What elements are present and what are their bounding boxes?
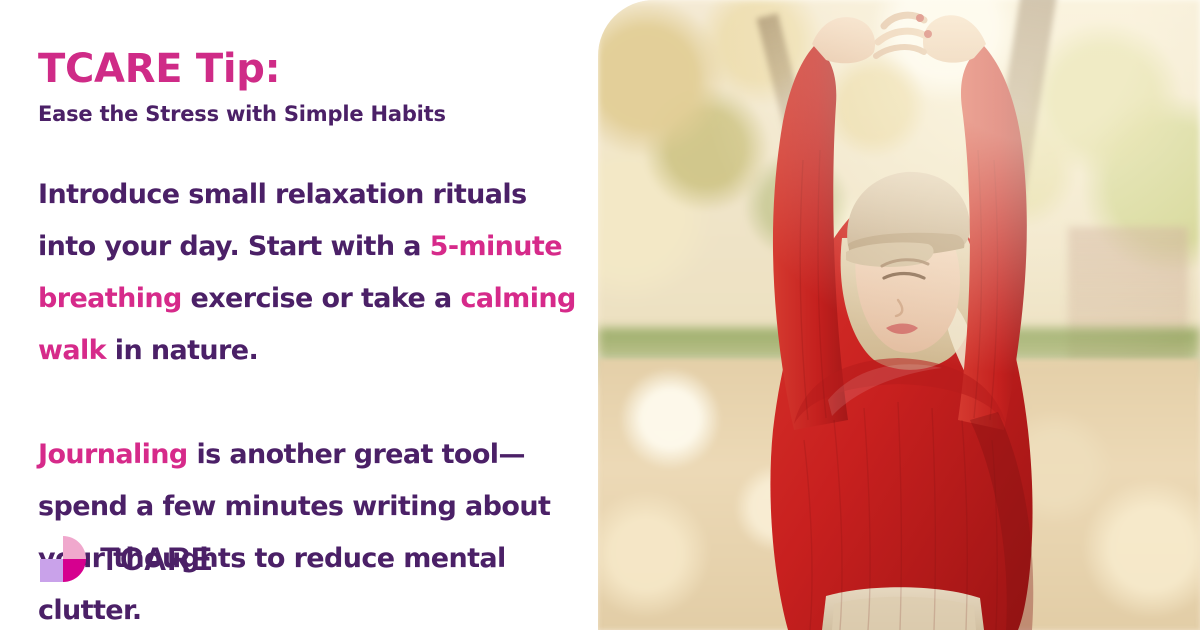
page-subtitle: Ease the Stress with Simple Habits — [38, 102, 598, 127]
paragraph-two: Journaling is another great tool—spend a… — [38, 429, 583, 630]
hero-photo — [598, 0, 1200, 630]
tip-card: TCARE Tip: Ease the Stress with Simple H… — [0, 0, 1200, 630]
paragraph-one-text-b: exercise or take a — [182, 283, 461, 314]
paragraph-one: Introduce small relaxation rituals into … — [38, 169, 583, 377]
tcare-wordmark: TCARE — [100, 543, 213, 575]
tcare-petal-mark-icon — [40, 536, 86, 582]
photo-figure-woman-stretching — [598, 0, 1200, 630]
highlight-journaling: Journaling — [38, 439, 188, 470]
paragraph-one-text-c: in nature. — [106, 335, 258, 366]
tcare-logo: TCARE — [40, 536, 213, 582]
page-title: TCARE Tip: — [38, 48, 598, 90]
